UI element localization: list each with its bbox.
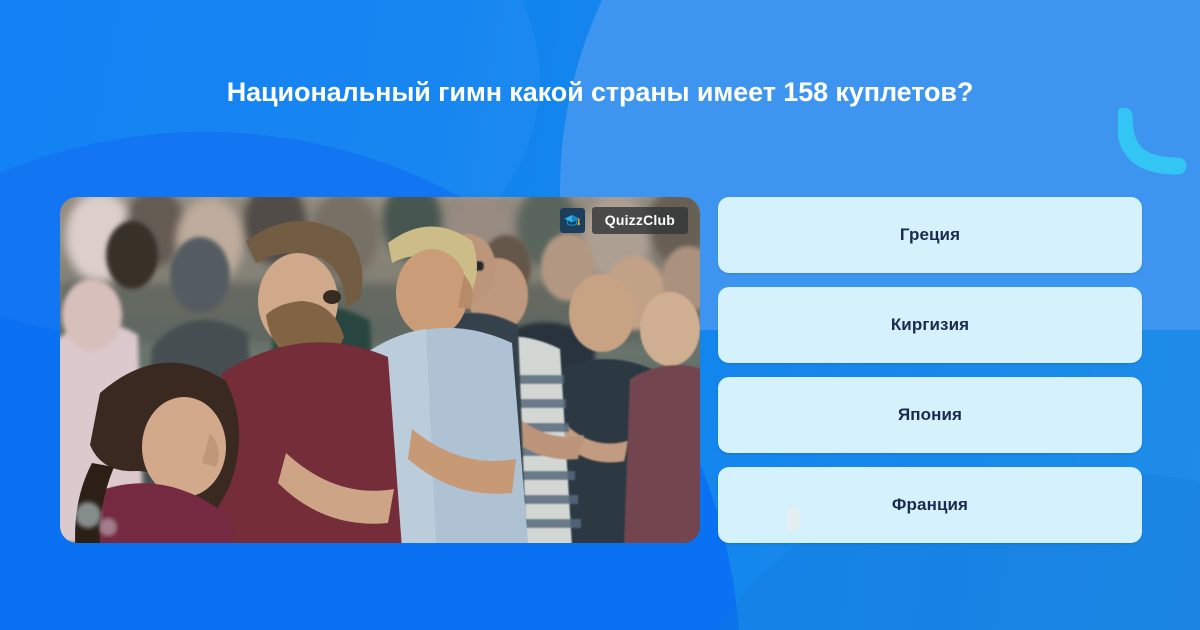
question-image: QuizzClub (60, 197, 700, 543)
arc-decoration-icon (1118, 108, 1192, 180)
page-title: Национальный гимн какой страны имеет 158… (0, 74, 1200, 110)
watermark-badge: QuizzClub (560, 207, 688, 234)
graduation-cap-icon (560, 208, 585, 233)
answer-list-marker (787, 507, 800, 531)
quiz-card: Национальный гимн какой страны имеет 158… (0, 0, 1200, 630)
answer-option-3[interactable]: Япония (718, 377, 1142, 453)
answer-option-label: Япония (898, 405, 962, 425)
watermark-brand-label: QuizzClub (592, 207, 688, 234)
answer-option-label: Греция (900, 225, 960, 245)
crowd-photo-illustration (60, 197, 700, 543)
answer-options-list: Греция Киргизия Япония Франция (718, 197, 1142, 543)
answer-option-label: Франция (892, 495, 968, 515)
answer-option-label: Киргизия (891, 315, 969, 335)
answer-option-1[interactable]: Греция (718, 197, 1142, 273)
answer-option-2[interactable]: Киргизия (718, 287, 1142, 363)
answer-option-4[interactable]: Франция (718, 467, 1142, 543)
